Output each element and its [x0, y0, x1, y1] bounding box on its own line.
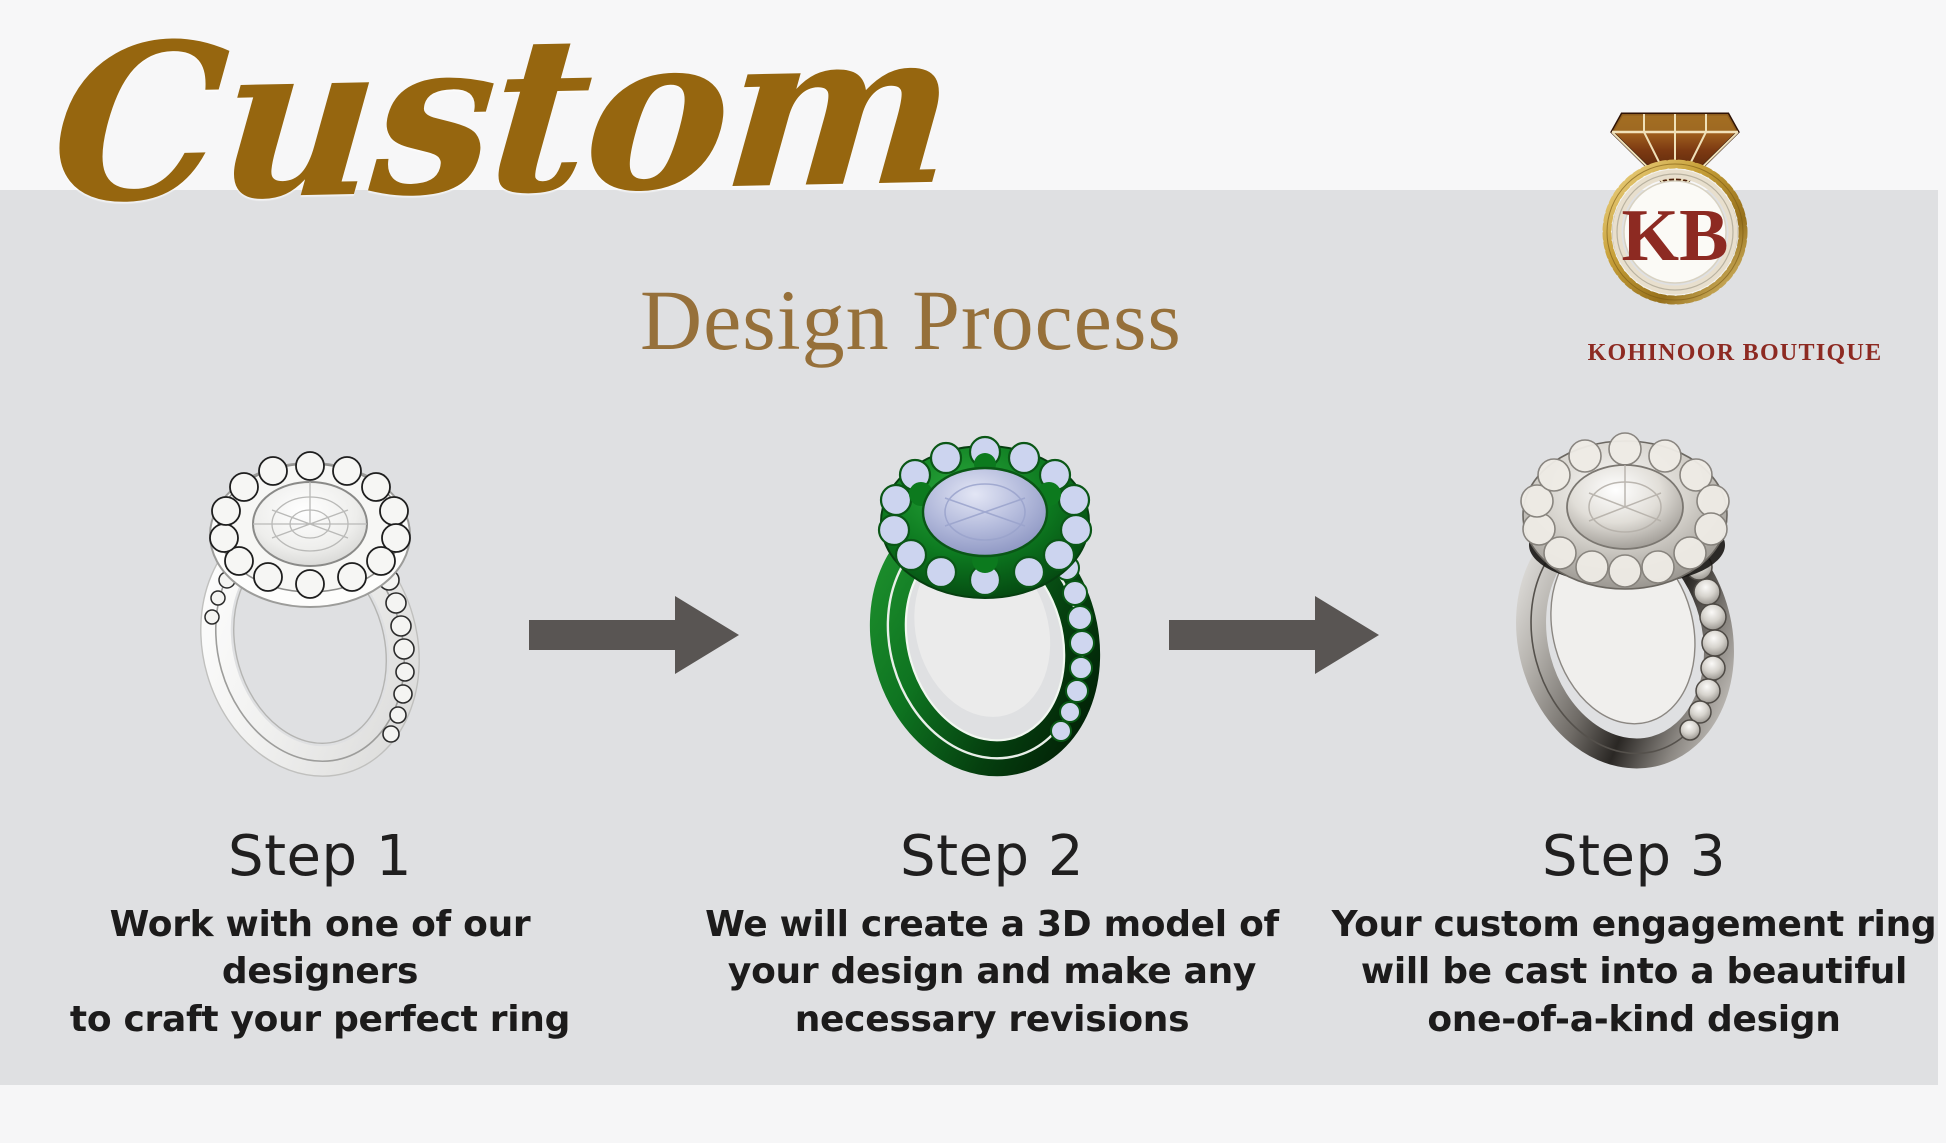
- step-1-title: Step 1: [20, 828, 620, 887]
- arrow-step2-to-step3: [1165, 580, 1395, 690]
- infographic-canvas: Custom Design Process: [0, 0, 1946, 1143]
- step-1-caption: Step 1 Work with one of our designers to…: [20, 828, 620, 1043]
- step-2-desc-line-2: your design and make any: [672, 948, 1312, 996]
- step-2-caption: Step 2 We will create a 3D model of your…: [672, 828, 1312, 1043]
- ring-diamond-logo-icon: KB: [1560, 70, 1790, 305]
- step-1-desc-line-1: Work with one of our designers: [20, 901, 620, 996]
- page-subtitle: Design Process: [640, 277, 1182, 363]
- step-2-title: Step 2: [672, 828, 1312, 887]
- step-2-desc-line-3: necessary revisions: [672, 996, 1312, 1044]
- arrow-step1-to-step2: [525, 580, 755, 690]
- background-band-bottom: [0, 1085, 1946, 1143]
- monogram-text: KB: [1622, 195, 1729, 277]
- step-2-desc-line-1: We will create a 3D model of: [672, 901, 1312, 949]
- step-3-desc-line-1: Your custom engagement ring: [1322, 901, 1946, 949]
- steps-image-row: [0, 415, 1946, 815]
- step-2-description: We will create a 3D model of your design…: [672, 901, 1312, 1044]
- step-3-desc-line-2: will be cast into a beautiful: [1322, 948, 1946, 996]
- step-1-desc-line-2: to craft your perfect ring: [20, 996, 620, 1044]
- arrow-right-icon: [1169, 596, 1379, 674]
- step-3-ring-image: [1475, 415, 1775, 775]
- page-title-script: Custom: [45, 0, 960, 232]
- step-1-ring-image: [160, 430, 460, 790]
- step-3-title: Step 3: [1322, 828, 1946, 887]
- brand-logo: KB: [1560, 70, 1790, 305]
- step-3-desc-line-3: one-of-a-kind design: [1322, 996, 1946, 1044]
- step-1-description: Work with one of our designers to craft …: [20, 901, 620, 1044]
- step-2-ring-image: [835, 420, 1135, 780]
- step-3-caption: Step 3 Your custom engagement ring will …: [1322, 828, 1946, 1043]
- brand-name-text: KOHINOOR BOUTIQUE: [1520, 340, 1946, 367]
- step-3-description: Your custom engagement ring will be cast…: [1322, 901, 1946, 1044]
- arrow-right-icon: [529, 596, 739, 674]
